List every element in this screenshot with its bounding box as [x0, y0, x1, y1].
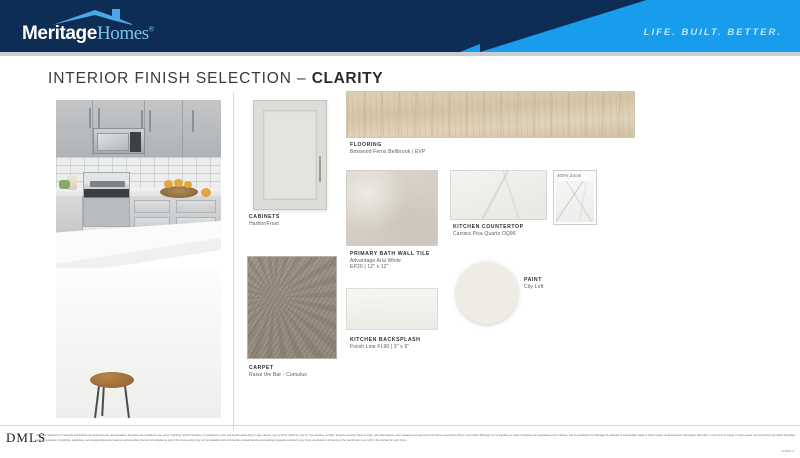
- swatch-cabinets[interactable]: [253, 100, 327, 210]
- photo-range: [83, 172, 130, 227]
- swatch-flooring[interactable]: [346, 91, 635, 138]
- label-cabinets: CABINETS Harbor/Frost: [249, 214, 280, 227]
- photo-drawer: [176, 200, 216, 213]
- label-bath-tile-title: PRIMARY BATH WALL TILE: [350, 251, 430, 258]
- label-backsplash-title: KITCHEN BACKSPLASH: [350, 337, 420, 344]
- swatch-paint[interactable]: [456, 262, 518, 324]
- label-cabinets-title: CABINETS: [249, 214, 280, 221]
- logo-registered-mark: ®: [149, 27, 154, 34]
- photo-cabinet-handle: [89, 108, 91, 128]
- footer-divider: [0, 425, 800, 426]
- label-paint-title: PAINT: [524, 277, 544, 284]
- photo-backsplash: [56, 157, 221, 190]
- label-carpet-title: CARPET: [249, 365, 307, 372]
- photo-microwave: [93, 128, 145, 154]
- column-divider: [233, 92, 234, 430]
- countertop-zoom-image: [556, 181, 594, 222]
- label-kitchen-backsplash: KITCHEN BACKSPLASH Finish Line FL90 | 3"…: [350, 337, 420, 350]
- logo-wordmark: MeritageHomes®: [22, 23, 154, 45]
- photo-fruit: [184, 181, 192, 188]
- label-countertop-detail: Carrara Pisa Quartz OQ96: [453, 231, 524, 238]
- header-underline: [0, 52, 800, 56]
- photo-range-controls: [90, 181, 125, 187]
- finish-selection-board: MeritageHomes® LIFE. BUILT. BETTER. INTE…: [0, 0, 800, 458]
- countertop-zoom-label: 400% Zoom: [557, 173, 581, 178]
- logo-meritage: Meritage: [22, 23, 97, 44]
- photo-island-face: [56, 268, 221, 418]
- photo-plant: [59, 180, 70, 189]
- label-backsplash-detail: Finish Line FL90 | 3" x 6": [350, 344, 420, 351]
- label-bath-tile-detail: Advantage Aria White: [350, 258, 430, 265]
- footer-document-code: 0013611-A: [782, 450, 795, 453]
- logo-homes: Homes: [97, 23, 149, 44]
- label-flooring-title: FLOORING: [350, 142, 425, 149]
- brand-tagline: LIFE. BUILT. BETTER.: [644, 27, 782, 38]
- label-countertop-title: KITCHEN COUNTERTOP: [453, 224, 524, 231]
- photo-cabinet-handle: [192, 110, 194, 132]
- label-paint: PAINT City Loft: [524, 277, 544, 290]
- label-bath-tile-spec: EP20 | 12" x 12": [350, 264, 430, 271]
- label-carpet: CARPET Raise the Bar - Cumulus: [249, 365, 307, 378]
- photo-bar-stool: [90, 372, 134, 388]
- page-title-prefix: INTERIOR FINISH SELECTION –: [48, 70, 312, 87]
- swatch-primary-bath-wall-tile[interactable]: [346, 170, 438, 246]
- label-primary-bath-wall-tile: PRIMARY BATH WALL TILE Advantage Aria Wh…: [350, 251, 430, 271]
- photo-microwave-window: [97, 133, 129, 151]
- kitchen-interior-photo: [56, 100, 221, 418]
- page-header: MeritageHomes® LIFE. BUILT. BETTER.: [0, 0, 800, 52]
- photo-fruit: [174, 179, 183, 187]
- photo-fruit-bowl: [160, 186, 198, 198]
- photo-cabinet-unit: [183, 100, 221, 157]
- swatch-kitchen-countertop[interactable]: [450, 170, 547, 220]
- photo-lower-cabinet-left: [56, 196, 83, 234]
- label-paint-detail: City Loft: [524, 284, 544, 291]
- label-flooring: FLOORING Boxwood Ferns Bellbrook | EVP: [350, 142, 425, 155]
- photo-cabinet-handle: [98, 108, 100, 128]
- label-cabinets-detail: Harbor/Frost: [249, 221, 280, 228]
- photo-fruit: [164, 180, 173, 188]
- footer-disclaimer: Although depictions of materials and fin…: [36, 434, 796, 444]
- meritage-homes-logo[interactable]: MeritageHomes®: [22, 8, 212, 44]
- photo-fruit: [201, 188, 211, 197]
- swatch-carpet[interactable]: [247, 256, 337, 359]
- label-flooring-detail: Boxwood Ferns Bellbrook | EVP: [350, 149, 425, 156]
- label-carpet-detail: Raise the Bar - Cumulus: [249, 372, 307, 379]
- page-title-plan: CLARITY: [312, 70, 383, 87]
- photo-drawer: [134, 200, 170, 213]
- label-kitchen-countertop: KITCHEN COUNTERTOP Carrara Pisa Quartz O…: [453, 224, 524, 237]
- cabinet-door-panel: [263, 110, 317, 200]
- photo-microwave-panel: [130, 132, 141, 152]
- page-title: INTERIOR FINISH SELECTION – CLARITY: [48, 70, 383, 88]
- cabinet-pull-handle: [319, 156, 321, 182]
- photo-cabinet-handle: [149, 110, 151, 132]
- swatch-countertop-zoom[interactable]: 400% Zoom: [553, 170, 597, 225]
- swatch-kitchen-backsplash[interactable]: [346, 288, 438, 330]
- photo-cabinet-unit: [56, 100, 93, 157]
